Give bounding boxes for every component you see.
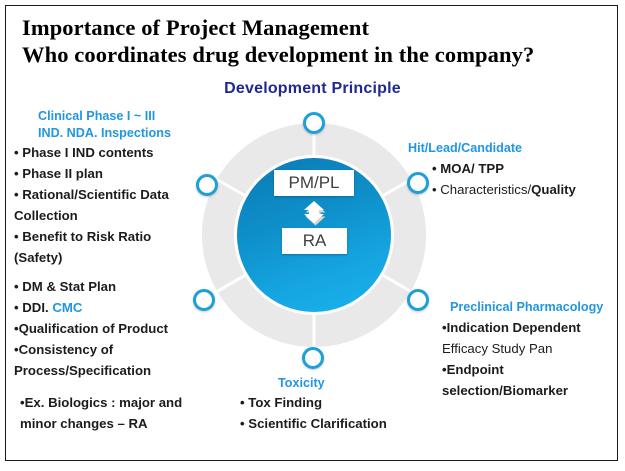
title-line-1: Importance of Project Management: [22, 14, 602, 41]
slide-canvas: Importance of Project Management Who coo…: [0, 0, 625, 471]
toxicity-item-list: • Tox Finding • Scientific Clarification: [240, 392, 387, 434]
list-item: Collection: [14, 205, 169, 226]
quality-label: Quality: [531, 182, 576, 197]
list-item: • Benefit to Risk Ratio: [14, 226, 169, 247]
cmc-tag: CMC: [52, 300, 82, 315]
characteristics-label: • Characteristics/: [432, 182, 531, 197]
center-box-pm-pl[interactable]: PM/PL: [274, 170, 354, 196]
list-item: • Rational/Scientific Data: [14, 184, 169, 205]
list-item: • Phase II plan: [14, 163, 169, 184]
node-upper-right[interactable]: [407, 172, 429, 194]
list-item: • Tox Finding: [240, 392, 387, 413]
clinical-head-line-1: Clinical Phase I ~ III: [38, 108, 171, 125]
section-head-clinical: Clinical Phase I ~ III IND. NDA. Inspect…: [38, 108, 171, 142]
hit-lead-item-list: • MOA/ TPP • Characteristics/Quality: [432, 158, 576, 200]
node-lower-left[interactable]: [193, 289, 215, 311]
list-item: minor changes – RA: [20, 413, 182, 434]
list-item: Process/Specification: [14, 360, 168, 381]
list-item: • Phase I IND contents: [14, 142, 169, 163]
node-top[interactable]: [303, 112, 325, 134]
section-head-toxicity: Toxicity: [278, 375, 325, 392]
list-item: selection/Biomarker: [442, 380, 581, 401]
cmc-item-list: • DM & Stat Plan • DDI. CMC •Qualificati…: [14, 276, 168, 381]
section-head-hit-lead: Hit/Lead/Candidate: [408, 140, 522, 157]
subtitle-development-principle: Development Principle: [0, 80, 625, 98]
node-upper-left[interactable]: [196, 174, 218, 196]
clinical-head-line-2: IND. NDA. Inspections: [38, 125, 171, 142]
center-hub-circle: PM/PL RA: [237, 158, 391, 312]
biologics-item-list: •Ex. Biologics : major and minor changes…: [20, 392, 182, 434]
section-head-preclinical: Preclinical Pharmacology: [450, 299, 603, 316]
list-item: •Consistency of: [14, 339, 168, 360]
list-item: Efficacy Study Pan: [442, 338, 581, 359]
list-item-ddi: • DDI. CMC: [14, 297, 168, 318]
preclinical-head: Preclinical Pharmacology: [450, 299, 603, 316]
list-item: • MOA/ TPP: [432, 158, 576, 179]
ddi-label: • DDI.: [14, 300, 49, 315]
double-arrow-icon: [295, 200, 333, 230]
list-item: (Safety): [14, 247, 169, 268]
list-item: •Endpoint: [442, 359, 581, 380]
list-item: •Indication Dependent: [442, 317, 581, 338]
hit-lead-head: Hit/Lead/Candidate: [408, 140, 522, 157]
list-item: • DM & Stat Plan: [14, 276, 168, 297]
preclinical-item-list: •Indication Dependent Efficacy Study Pan…: [442, 317, 581, 401]
page-title: Importance of Project Management Who coo…: [22, 14, 602, 68]
list-item: •Ex. Biologics : major and: [20, 392, 182, 413]
node-bottom[interactable]: [302, 347, 324, 369]
node-lower-right[interactable]: [407, 289, 429, 311]
clinical-item-list: • Phase I IND contents • Phase II plan •…: [14, 142, 169, 268]
title-line-2: Who coordinates drug development in the …: [22, 41, 602, 68]
toxicity-head: Toxicity: [278, 375, 325, 392]
list-item: • Scientific Clarification: [240, 413, 387, 434]
list-item: •Qualification of Product: [14, 318, 168, 339]
center-box-ra[interactable]: RA: [282, 228, 347, 254]
list-item-characteristics: • Characteristics/Quality: [432, 179, 576, 200]
